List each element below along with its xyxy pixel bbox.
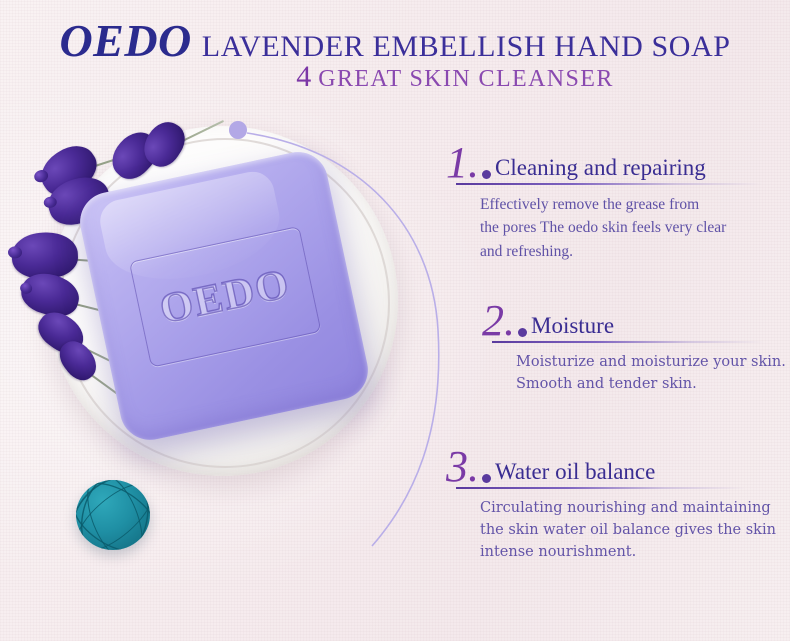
feature-heading: 2. Moisture xyxy=(482,300,790,340)
feature-underline xyxy=(492,341,764,343)
rattan-ball xyxy=(76,480,150,550)
lavender-spike xyxy=(11,231,79,279)
feature-item-3: 3. Water oil balance Circulating nourish… xyxy=(446,446,790,563)
feature-body-line: Effectively remove the grease from xyxy=(480,193,790,217)
brand-wordmark: OEDO xyxy=(59,15,191,66)
soap-emboss-frame: OEDO xyxy=(129,226,321,368)
product-photo: OEDO xyxy=(0,108,470,641)
feature-body: Effectively remove the grease from the p… xyxy=(480,193,790,264)
feature-body-line: Circulating nourishing and maintaining xyxy=(480,497,790,519)
feature-underline xyxy=(456,487,746,489)
soap-emboss-label: OEDO xyxy=(156,260,295,334)
feature-body: Moisturize and moisturize your skin. Smo… xyxy=(516,351,790,395)
feature-bullet-dot xyxy=(482,170,491,179)
feature-number: 2. xyxy=(482,302,517,340)
feature-item-2: 2. Moisture Moisturize and moisturize yo… xyxy=(482,300,790,395)
feature-title: Cleaning and repairing xyxy=(495,156,706,182)
feature-title: Water oil balance xyxy=(495,460,655,486)
feature-body-line: and refreshing. xyxy=(480,240,790,264)
feature-body-line: Moisturize and moisturize your skin. xyxy=(516,351,790,373)
feature-underline xyxy=(456,183,762,185)
feature-bullet-dot xyxy=(518,328,527,337)
feature-title: Moisture xyxy=(531,314,614,340)
feature-heading: 1. Cleaning and repairing xyxy=(446,142,790,182)
feature-body-line: Smooth and tender skin. xyxy=(516,373,790,395)
soap-bar: OEDO xyxy=(75,147,374,446)
subtitle-number: 4 xyxy=(296,60,311,93)
feature-body-line: intense nourishment. xyxy=(480,541,790,563)
feature-bullet-dot xyxy=(482,474,491,483)
product-advertisement: OEDOLAVENDER EMBELLISH HAND SOAP 4GREAT … xyxy=(0,0,790,641)
feature-number: 1. xyxy=(446,144,481,182)
feature-number: 3. xyxy=(446,448,481,486)
feature-list: 1. Cleaning and repairing Effectively re… xyxy=(446,0,790,641)
feature-body: Circulating nourishing and maintaining t… xyxy=(480,497,790,563)
feature-body-line: the pores The oedo skin feels very clear xyxy=(480,216,790,240)
feature-heading: 3. Water oil balance xyxy=(446,446,790,486)
feature-item-1: 1. Cleaning and repairing Effectively re… xyxy=(446,142,790,263)
feature-body-line: the skin water oil balance gives the ski… xyxy=(480,519,790,541)
